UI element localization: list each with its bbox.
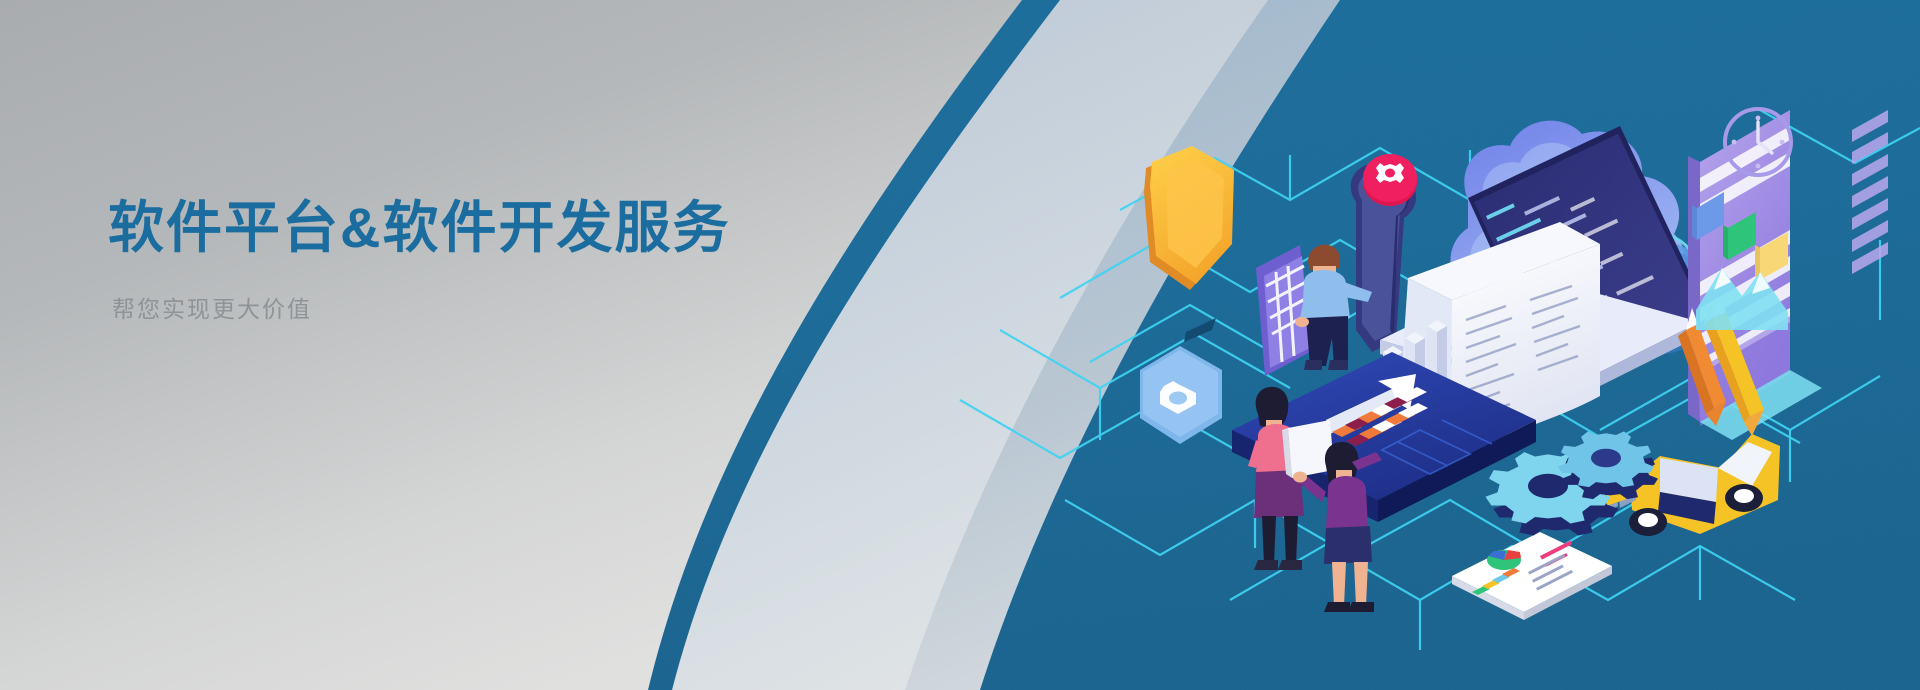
clock-icon [1725,109,1791,175]
right-edge-bars [1852,110,1888,274]
gear-badge-icon [1363,154,1417,206]
page-subtitle: 帮您实现更大价值 [112,295,928,325]
page-title: 软件平台&软件开发服务 [108,195,928,261]
isometric-illustration [0,0,1920,690]
hero-banner: 软件平台&软件开发服务 帮您实现更大价值 [0,0,1920,690]
camera-tile-icon [1140,346,1222,444]
banner-text-block: 软件平台&软件开发服务 帮您实现更大价值 [108,195,928,325]
news-report-card [1452,532,1612,620]
pointer-icon [1184,318,1216,342]
gold-shield-icon [1144,146,1234,290]
